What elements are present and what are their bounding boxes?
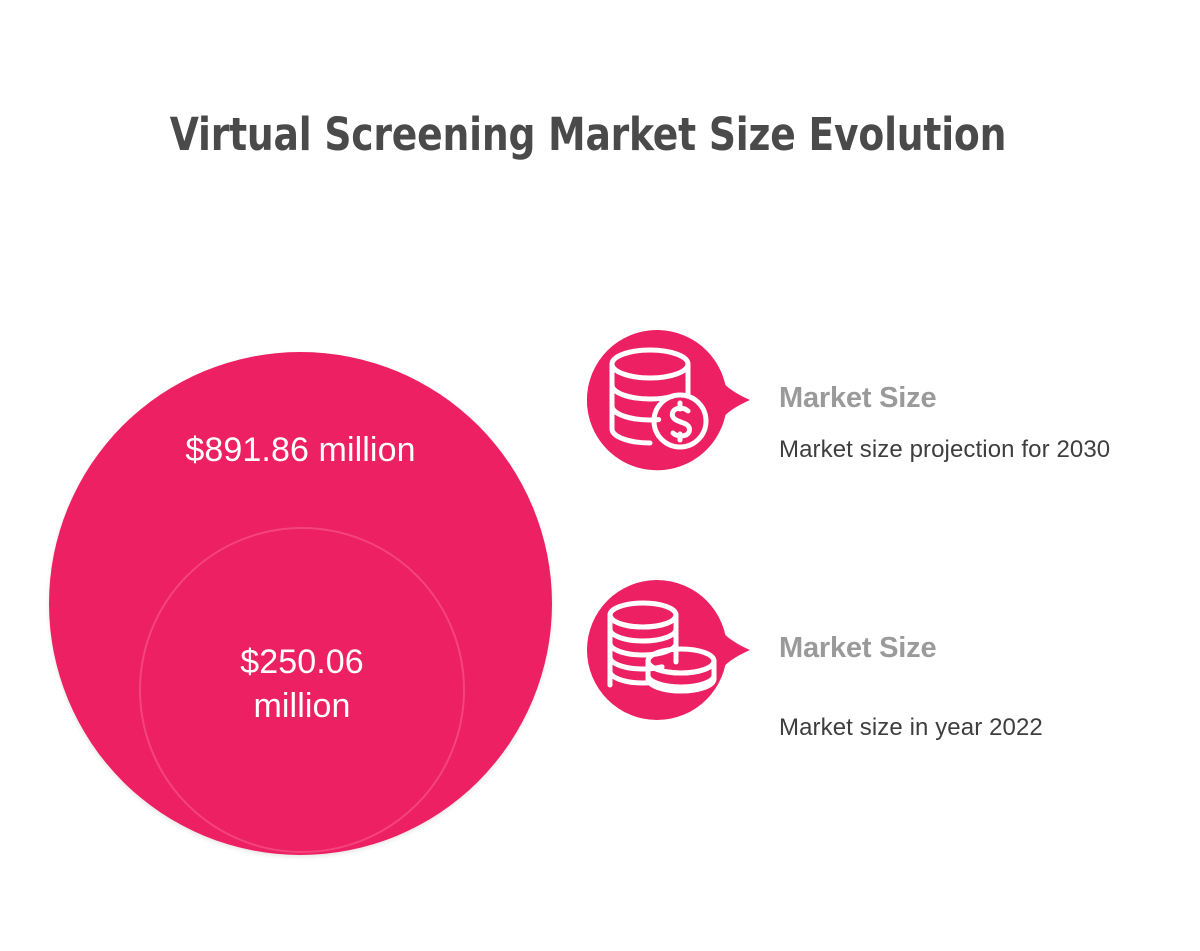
bubble-chart: $891.86 million $250.06 million bbox=[0, 0, 600, 951]
legend-item-text: Market Size Market size in year 2022 bbox=[779, 575, 1179, 745]
legend-item-text: Market Size Market size projection for 2… bbox=[779, 325, 1179, 467]
legend-item-market-size-2022[interactable]: Market Size Market size in year 2022 bbox=[560, 575, 1200, 755]
bubble-inner-label: $250.06 million bbox=[139, 640, 465, 728]
legend-item-description: Market size in year 2022 bbox=[779, 711, 1179, 745]
bubble-inner-label-line2: million bbox=[139, 684, 465, 728]
legend-item-market-size-2030[interactable]: Market Size Market size projection for 2… bbox=[560, 325, 1200, 505]
bubble-outer-label: $891.86 million bbox=[49, 428, 552, 472]
database-dollar-icon bbox=[570, 325, 760, 475]
bubble-inner-label-line1: $250.06 bbox=[139, 640, 465, 684]
legend-item-description: Market size projection for 2030 bbox=[779, 433, 1151, 467]
legend: Market Size Market size projection for 2… bbox=[560, 0, 1200, 951]
legend-item-heading: Market Size bbox=[779, 631, 1179, 665]
legend-item-heading: Market Size bbox=[779, 381, 1179, 415]
coin-stacks-icon bbox=[570, 575, 760, 725]
infographic-canvas: Virtual Screening Market Size Evolution … bbox=[0, 0, 1200, 951]
